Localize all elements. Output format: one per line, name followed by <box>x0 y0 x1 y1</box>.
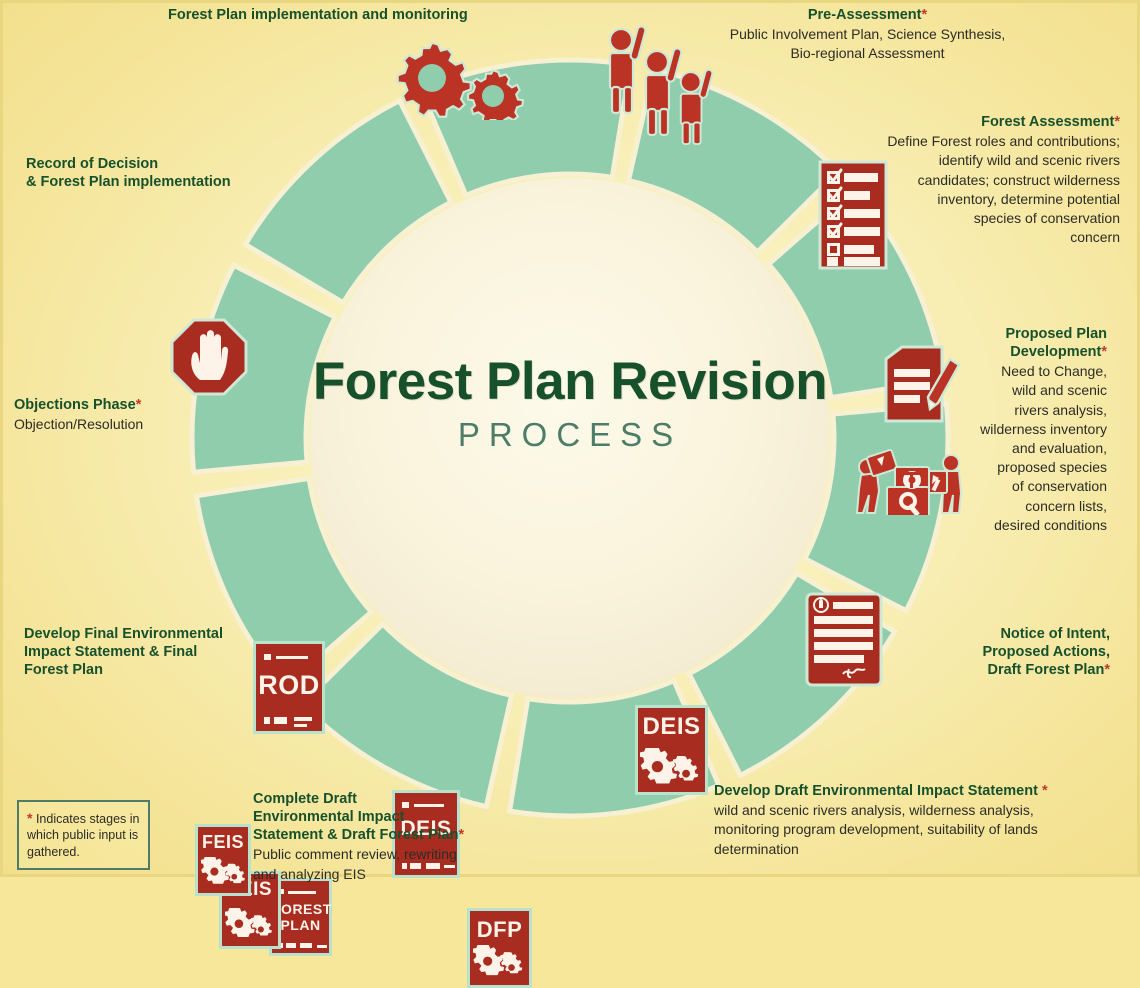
forest-assessment-body-2: identify wild and scenic rivers <box>830 151 1120 169</box>
develop-final-eis-line-1: Develop Final Environmental <box>24 625 254 643</box>
proposed-plan-heading-2: Development* <box>945 343 1107 361</box>
forest-assessment-body-1: Define Forest roles and contributions; <box>830 132 1120 150</box>
legend-text-wrap: * Indicates stages in which public input… <box>27 809 140 860</box>
proposed-plan-body-1: Need to Change, <box>945 362 1107 380</box>
rod-doc-icon: ROD <box>253 641 325 734</box>
stop-hand-icon <box>170 318 248 396</box>
label-develop-draft-eis: Develop Draft Environmental Impact State… <box>714 782 1134 858</box>
label-forest-assessment: Forest Assessment* Define Forest roles a… <box>830 113 1120 246</box>
complete-draft-eis-body-2: and analyzing EIS <box>253 865 553 883</box>
proposed-plan-heading-2-text: Development <box>1010 344 1101 360</box>
label-notice-of-intent: Notice of Intent, Proposed Actions, Draf… <box>880 625 1110 679</box>
pre-assessment-body-1: Public Involvement Plan, Science Synthes… <box>690 25 1045 43</box>
asterisk-proposed-plan: * <box>1101 344 1107 360</box>
proposed-plan-heading-1: Proposed Plan <box>945 325 1107 343</box>
legend-box: * Indicates stages in which public input… <box>17 800 150 870</box>
forest-assessment-body-3: candidates; construct wilderness <box>830 171 1120 189</box>
label-develop-final-eis: Develop Final Environmental Impact State… <box>24 625 254 679</box>
asterisk-complete-draft-eis: * <box>458 827 464 843</box>
notice-of-intent-line-3-text: Draft Forest Plan <box>988 662 1105 678</box>
develop-draft-eis-body-2: monitoring program development, suitabil… <box>714 820 1134 838</box>
label-forest-plan-implementation: Forest Plan implementation and monitorin… <box>168 6 588 24</box>
dfp-gears-icon: DFP <box>467 908 532 988</box>
complete-draft-eis-heading-3-text: Statement & Draft Forest Plan <box>253 827 458 843</box>
proposed-plan-body-9: desired conditions <box>945 516 1107 534</box>
forest-plan-implementation-heading: Forest Plan implementation and monitorin… <box>168 6 588 24</box>
objections-phase-heading-text: Objections Phase <box>14 397 136 413</box>
label-proposed-plan-development: Proposed Plan Development* Need to Chang… <box>945 325 1107 534</box>
legend-text: Indicates stages in which public input i… <box>27 812 139 859</box>
proposed-plan-body-8: concern lists, <box>945 497 1107 515</box>
develop-draft-eis-heading: Develop Draft Environmental Impact State… <box>714 782 1134 800</box>
dfp-label: DFP <box>470 917 529 943</box>
forest-assessment-body-5: species of conservation <box>830 209 1120 227</box>
asterisk-objections-phase: * <box>136 397 142 413</box>
pre-assessment-heading-text: Pre-Assessment <box>808 7 922 23</box>
develop-draft-eis-body-3: determination <box>714 840 1134 858</box>
proposed-plan-body-4: wilderness inventory <box>945 420 1107 438</box>
deis-gears-icon: DEIS <box>635 705 708 795</box>
pre-assessment-body-2: Bio-regional Assessment <box>690 44 1045 62</box>
label-pre-assessment: Pre-Assessment* Public Involvement Plan,… <box>690 6 1045 63</box>
infographic-canvas: Forest Plan Revision PROCESS <box>0 0 1140 877</box>
complete-draft-eis-heading-1: Complete Draft <box>253 790 553 808</box>
forest-assessment-heading-text: Forest Assessment <box>981 114 1114 130</box>
rod-label: ROD <box>256 670 322 701</box>
forest-assessment-heading: Forest Assessment* <box>830 113 1120 131</box>
signed-notice-icon <box>805 592 883 687</box>
proposed-plan-body-6: proposed species <box>945 458 1107 476</box>
proposed-plan-body-2: wild and scenic <box>945 381 1107 399</box>
deis-right-label: DEIS <box>638 713 705 741</box>
complete-draft-eis-heading-3: Statement & Draft Forest Plan* <box>253 826 553 844</box>
label-objections-phase: Objections Phase* Objection/Resolution <box>14 396 244 433</box>
ring-center-disc <box>310 178 830 698</box>
feis-top-label: FEIS <box>198 832 248 853</box>
complete-draft-eis-body-1: Public comment review, rewriting <box>253 845 553 863</box>
record-of-decision-line-2: & Forest Plan implementation <box>26 173 306 191</box>
feis-gears-icon-upper: FEIS <box>195 824 251 896</box>
objections-phase-heading: Objections Phase* <box>14 396 244 414</box>
proposed-plan-body-7: of conservation <box>945 477 1107 495</box>
gears-icon <box>388 38 538 120</box>
record-of-decision-line-1: Record of Decision <box>26 155 306 173</box>
asterisk-forest-assessment: * <box>1114 114 1120 130</box>
notice-of-intent-line-1: Notice of Intent, <box>880 625 1110 643</box>
asterisk-pre-assessment: * <box>922 7 928 23</box>
proposed-plan-body-3: rivers analysis, <box>945 401 1107 419</box>
asterisk-develop-draft-eis: * <box>1042 783 1048 799</box>
label-record-of-decision: Record of Decision & Forest Plan impleme… <box>26 155 306 191</box>
notice-of-intent-line-2: Proposed Actions, <box>880 643 1110 661</box>
develop-draft-eis-heading-text: Develop Draft Environmental Impact State… <box>714 783 1038 799</box>
legend-asterisk: * <box>27 810 32 826</box>
develop-final-eis-line-2: Impact Statement & Final <box>24 643 254 661</box>
forest-assessment-body-4: inventory, determine potential <box>830 190 1120 208</box>
pre-assessment-heading: Pre-Assessment* <box>690 6 1045 24</box>
objections-phase-body: Objection/Resolution <box>14 415 244 433</box>
develop-draft-eis-body-1: wild and scenic rivers analysis, wildern… <box>714 801 1134 819</box>
proposed-plan-body-5: and evaluation, <box>945 439 1107 457</box>
asterisk-notice-of-intent: * <box>1104 662 1110 678</box>
forest-assessment-body-6: concern <box>830 228 1120 246</box>
label-complete-draft-eis: Complete Draft Environmental Impact Stat… <box>253 790 553 883</box>
complete-draft-eis-heading-2: Environmental Impact <box>253 808 553 826</box>
develop-final-eis-line-3: Forest Plan <box>24 661 254 679</box>
notice-of-intent-line-3: Draft Forest Plan* <box>880 661 1110 679</box>
